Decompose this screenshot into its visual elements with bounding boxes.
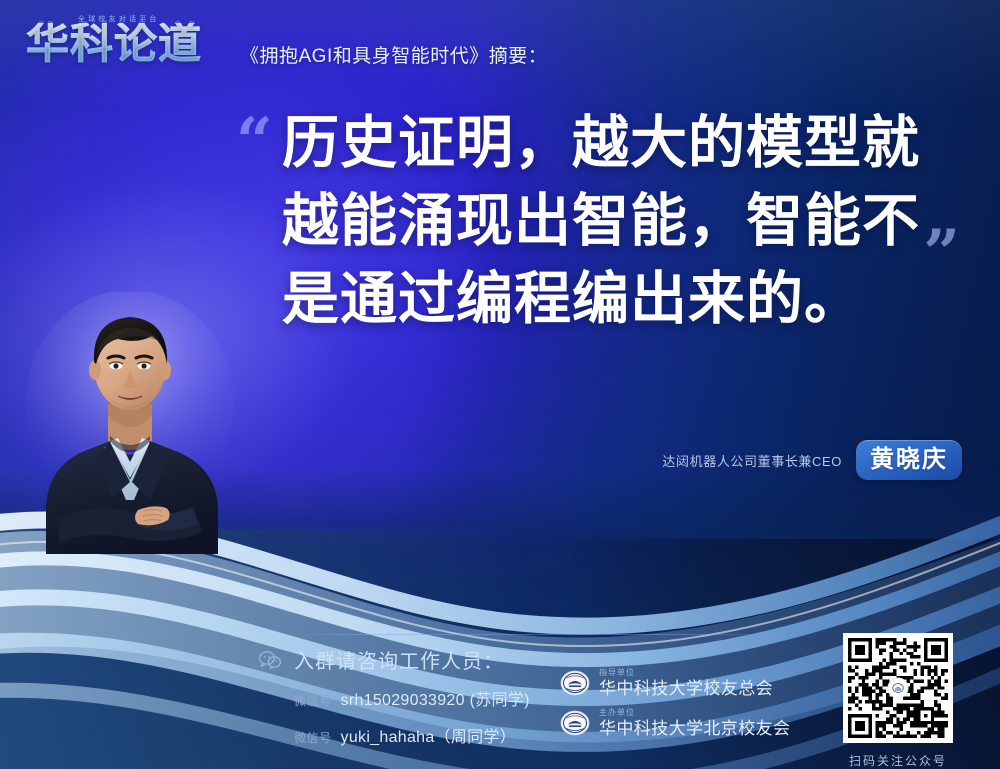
organizer-name: 华中科技大学校友总会: [599, 680, 773, 697]
speaker-name: 黄晓庆: [870, 448, 948, 472]
logo-wordmark: 华科论道: [26, 23, 202, 66]
open-quote-mark: “: [236, 110, 273, 174]
contact-value[interactable]: srh15029033920 (苏同学): [341, 686, 530, 710]
speaker-role: 达闼机器人公司董事长兼CEO: [662, 451, 842, 470]
contact-row: 微信号 srh15029033920 (苏同学): [294, 686, 530, 710]
contact-label: 微信号: [294, 692, 332, 709]
contact-row: 微信号 yuki_hahaha（周同学）: [294, 723, 530, 747]
organizer-text: 主办单位 华中科技大学北京校友会: [599, 709, 790, 737]
organizer-row: 指导单位 华中科技大学校友总会: [560, 668, 790, 698]
footer-heading-row: 入群请咨询工作人员：: [258, 645, 530, 674]
organizer-text: 指导单位 华中科技大学校友总会: [599, 669, 773, 697]
poster-canvas: 全球校友对话平台 华科论道 《拥抱AGI和具身智能时代》摘要： “ 历史证明，越…: [0, 0, 1000, 769]
organizer-kind: 指导单位: [599, 669, 773, 677]
university-seal-icon: [560, 708, 590, 738]
quote-block: “ 历史证明，越大的模型就 越能涌现出智能，智能不 是通过编程编出来的。 ”: [236, 104, 952, 338]
footer-contact-section: 入群请咨询工作人员： 微信号 srh15029033920 (苏同学) 微信号 …: [258, 645, 530, 760]
organizer-row: 主办单位 华中科技大学北京校友会: [560, 708, 790, 738]
qr-caption: 扫码关注公众号: [836, 752, 960, 769]
contact-label: 微信号: [294, 729, 332, 746]
footer-heading: 入群请咨询工作人员：: [294, 645, 504, 674]
contact-value[interactable]: yuki_hahaha（周同学）: [341, 723, 517, 747]
poster-header: 全球校友对话平台 华科论道 《拥抱AGI和具身智能时代》摘要：: [26, 16, 547, 74]
speaker-attribution: 达闼机器人公司董事长兼CEO 黄晓庆: [662, 440, 962, 480]
organizer-name: 华中科技大学北京校友会: [599, 720, 790, 737]
speaker-portrait: [26, 292, 240, 554]
qr-section: 扫码关注公众号: [836, 633, 960, 769]
quote-line: 越能涌现出智能，智能不: [282, 182, 952, 260]
footer-divider: [288, 634, 788, 635]
contact-list: 微信号 srh15029033920 (苏同学) 微信号 yuki_hahaha…: [294, 686, 530, 747]
quote-line: 是通过编程编出来的。: [282, 260, 952, 338]
page-title: 《拥抱AGI和具身智能时代》摘要：: [240, 41, 547, 74]
qr-code[interactable]: [843, 633, 953, 743]
organizer-list: 指导单位 华中科技大学校友总会 主办单位 华中科技大学北京校友会: [560, 668, 790, 748]
organizer-kind: 主办单位: [599, 709, 790, 717]
quote-text: 历史证明，越大的模型就 越能涌现出智能，智能不 是通过编程编出来的。: [282, 104, 952, 338]
university-seal-icon: [560, 668, 590, 698]
speaker-name-badge: 黄晓庆: [856, 440, 962, 480]
qr-center-logo-icon: [888, 678, 909, 699]
quote-line: 历史证明，越大的模型就: [282, 104, 952, 182]
wechat-icon: [258, 650, 282, 670]
brand-logo[interactable]: 全球校友对话平台 华科论道: [26, 16, 222, 74]
close-quote-mark: ”: [923, 222, 960, 286]
